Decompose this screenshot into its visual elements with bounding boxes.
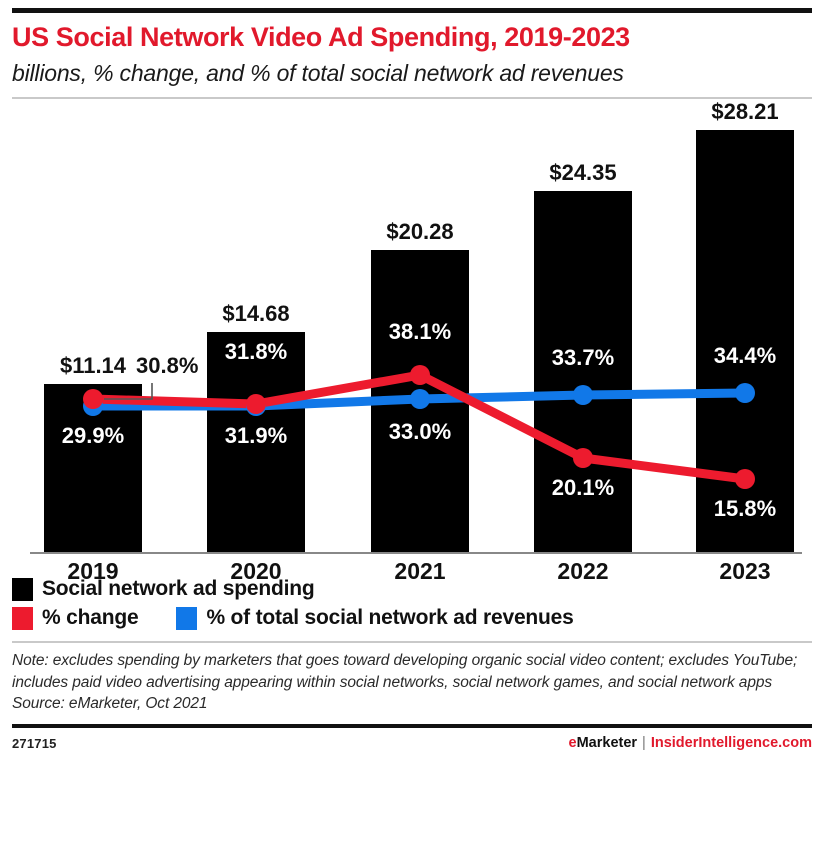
footer: 271715 eMarketer|InsiderIntelligence.com: [12, 735, 812, 751]
legend-row-2: % change % of total social network ad re…: [12, 606, 812, 630]
x-tick-2019: 2019: [67, 558, 118, 584]
top-rule: [12, 8, 812, 13]
brand-marketer-text: Marketer: [577, 735, 637, 751]
bar-value-label-2022: $24.35: [549, 160, 616, 185]
legend-label-pct-total: % of total social network ad revenues: [206, 606, 573, 630]
point-pct-change-2021: [410, 365, 430, 385]
notes-divider: [12, 641, 812, 643]
page-subtitle: billions, % change, and % of total socia…: [12, 59, 772, 87]
point-pct-change-2019: [83, 389, 103, 409]
chart-id: 271715: [12, 736, 57, 751]
x-axis-tick-labels: 20192020202120222023: [67, 558, 770, 584]
brand-e-mark: e: [569, 735, 577, 751]
bottom-rule: [12, 724, 812, 728]
legend-swatch-pct-change: [12, 607, 33, 630]
point-pct-of-total-2023: [735, 383, 755, 403]
point-pct-change-2022: [573, 448, 593, 468]
pct-change-label-2019: 30.8%: [136, 353, 198, 378]
pct-of-total-label-2022: 33.7%: [552, 345, 614, 370]
chart-source: Source: eMarketer, Oct 2021: [12, 695, 812, 713]
point-pct-change-2020: [246, 394, 266, 414]
x-tick-2020: 2020: [230, 558, 281, 584]
bar-2023: [696, 130, 794, 553]
pct-of-total-label-2023: 34.4%: [714, 343, 776, 368]
pct-change-label-2023: 15.8%: [714, 496, 776, 521]
legend-swatch-pct-total: [176, 607, 197, 630]
combo-bar-line-chart: $11.14$14.68$20.28$24.35$28.2130.8%31.8%…: [12, 101, 812, 601]
pct-change-label-2022: 20.1%: [552, 475, 614, 500]
header-divider: [12, 97, 812, 99]
infographic-sheet: US Social Network Video Ad Spending, 201…: [0, 0, 824, 862]
pct-of-total-label-2021: 33.0%: [389, 419, 451, 444]
bar-value-label-2020: $14.68: [222, 301, 289, 326]
chart-area: $11.14$14.68$20.28$24.35$28.2130.8%31.8%…: [12, 101, 812, 571]
point-pct-of-total-2021: [410, 389, 430, 409]
chart-note: Note: excludes spending by marketers tha…: [12, 650, 812, 694]
pct-of-total-label-2020: 31.9%: [225, 423, 287, 448]
point-pct-of-total-2022: [573, 385, 593, 405]
brand-site-link[interactable]: InsiderIntelligence.com: [651, 735, 812, 751]
brand-attribution: eMarketer|InsiderIntelligence.com: [569, 735, 812, 751]
bar-value-label-2021: $20.28: [386, 219, 453, 244]
legend-label-pct-change: % change: [42, 606, 138, 630]
bar-value-label-2023: $28.21: [711, 101, 778, 124]
x-tick-2023: 2023: [719, 558, 770, 584]
brand-separator: |: [637, 735, 651, 751]
x-tick-2021: 2021: [394, 558, 445, 584]
point-pct-change-2023: [735, 469, 755, 489]
pct-change-label-2020: 31.8%: [225, 339, 287, 364]
bar-value-label-2019: $11.14: [60, 353, 127, 378]
pct-change-label-2021: 38.1%: [389, 319, 451, 344]
page-title: US Social Network Video Ad Spending, 201…: [12, 22, 812, 53]
x-tick-2022: 2022: [557, 558, 608, 584]
pct-of-total-label-2019: 29.9%: [62, 423, 124, 448]
